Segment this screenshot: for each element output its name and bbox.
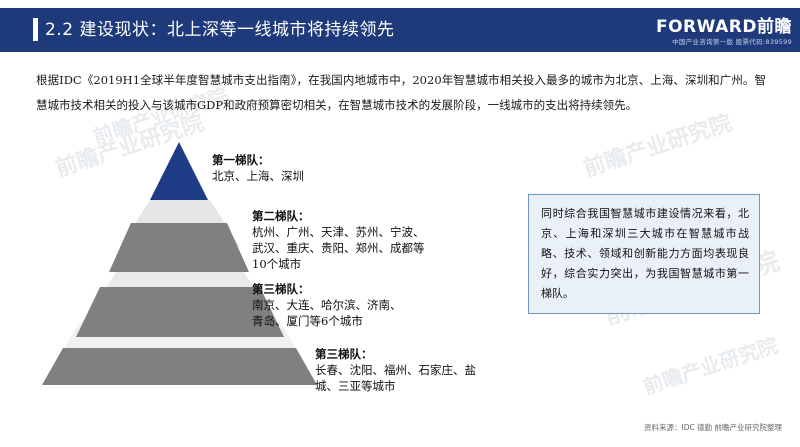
brand-logo-name: FORWARD前瞻	[607, 17, 792, 37]
tier-2-heading: 第二梯队：	[252, 208, 432, 224]
tier-3-heading: 第三梯队：	[252, 281, 412, 297]
callout-box: 同时综合我国智慧城市建设情况来看，北京、上海和深圳三大城市在智慧城市战略、技术、…	[528, 194, 760, 314]
pyramid-tier-4-label: 第三梯队： 长春、沈阳、福州、石家庄、盐城、三亚等城市	[315, 346, 495, 394]
callout-text: 同时综合我国智慧城市建设情况来看，北京、上海和深圳三大城市在智慧城市战略、技术、…	[541, 204, 749, 304]
pyramid-tier-3-label: 第三梯队： 南京、大连、哈尔滨、济南、青岛、厦门等6个城市	[252, 281, 412, 329]
tier-3-cities: 南京、大连、哈尔滨、济南、青岛、厦门等6个城市	[252, 297, 412, 329]
pyramid-tier-2-label: 第二梯队： 杭州、广州、天津、苏州、宁波、武汉、重庆、贵阳、郑州、成都等10个城…	[252, 208, 432, 272]
tier-1-cities: 北京、上海、深圳	[212, 168, 362, 184]
brand-logo-tagline: 中国产业咨询第一版 股票代码:839599	[607, 37, 792, 47]
watermark-brand: 前瞻产业研究院	[639, 329, 781, 400]
pyramid-tier-4-shape[interactable]	[42, 348, 317, 385]
tier-4-cities: 长春、沈阳、福州、石家庄、盐城、三亚等城市	[315, 362, 495, 394]
tier-2-cities: 杭州、广州、天津、苏州、宁波、武汉、重庆、贵阳、郑州、成都等10个城市	[252, 224, 432, 272]
source-note: 资料来源：IDC 德勤 前瞻产业研究院整理	[644, 422, 782, 433]
pyramid-tier-1-shape[interactable]	[150, 142, 208, 200]
tier-4-heading: 第三梯队：	[315, 346, 495, 362]
pyramid-tier-1-label: 第一梯队： 北京、上海、深圳	[212, 152, 362, 184]
brand-logo: FORWARD前瞻 中国产业咨询第一版 股票代码:839599	[607, 17, 792, 53]
tier-1-heading: 第一梯队：	[212, 152, 362, 168]
slide-page: 前瞻产业研究院 前瞻产业研究院 前瞻产业研究院 前瞻产业研究院 前瞻产业研究院 …	[0, 0, 800, 447]
pyramid-tier-2-shape[interactable]	[109, 223, 249, 272]
